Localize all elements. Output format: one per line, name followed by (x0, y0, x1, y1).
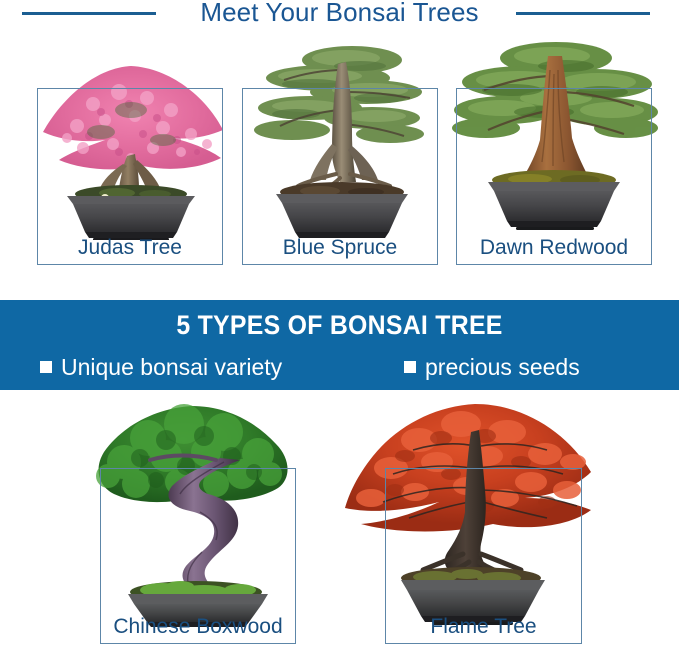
banner-bullet-item: precious seeds (404, 354, 580, 380)
bottom-card-row: Chinese Boxwood Flame Tree (0, 390, 679, 647)
square-bullet-icon (404, 361, 416, 373)
card-blue-spruce[interactable]: Blue Spruce (242, 88, 438, 265)
top-card-row: Judas Tree Blue Spruce Dawn Redwood (0, 0, 679, 300)
card-judas-tree[interactable]: Judas Tree (37, 88, 223, 265)
banner-bullet-text: Unique bonsai variety (61, 354, 282, 380)
card-label-dawn-redwood: Dawn Redwood (457, 235, 651, 261)
card-label-flame-tree: Flame Tree (386, 614, 581, 640)
poster-root: Meet Your Bonsai Trees (0, 0, 679, 647)
banner-bullet-item: Unique bonsai variety (40, 354, 282, 380)
card-flame-tree[interactable]: Flame Tree (385, 468, 582, 644)
card-chinese-boxwood[interactable]: Chinese Boxwood (100, 468, 296, 644)
square-bullet-icon (40, 361, 52, 373)
card-label-blue-spruce: Blue Spruce (243, 235, 437, 261)
banner-bullet-list: Unique bonsai variety precious seeds (0, 350, 679, 384)
card-label-judas-tree: Judas Tree (38, 235, 222, 261)
banner-title: 5 TYPES OF BONSAI TREE (27, 310, 652, 341)
card-label-chinese-boxwood: Chinese Boxwood (101, 614, 295, 640)
promo-banner: 5 TYPES OF BONSAI TREE Unique bonsai var… (0, 300, 679, 390)
banner-bullet-text: precious seeds (425, 354, 580, 380)
card-dawn-redwood[interactable]: Dawn Redwood (456, 88, 652, 265)
